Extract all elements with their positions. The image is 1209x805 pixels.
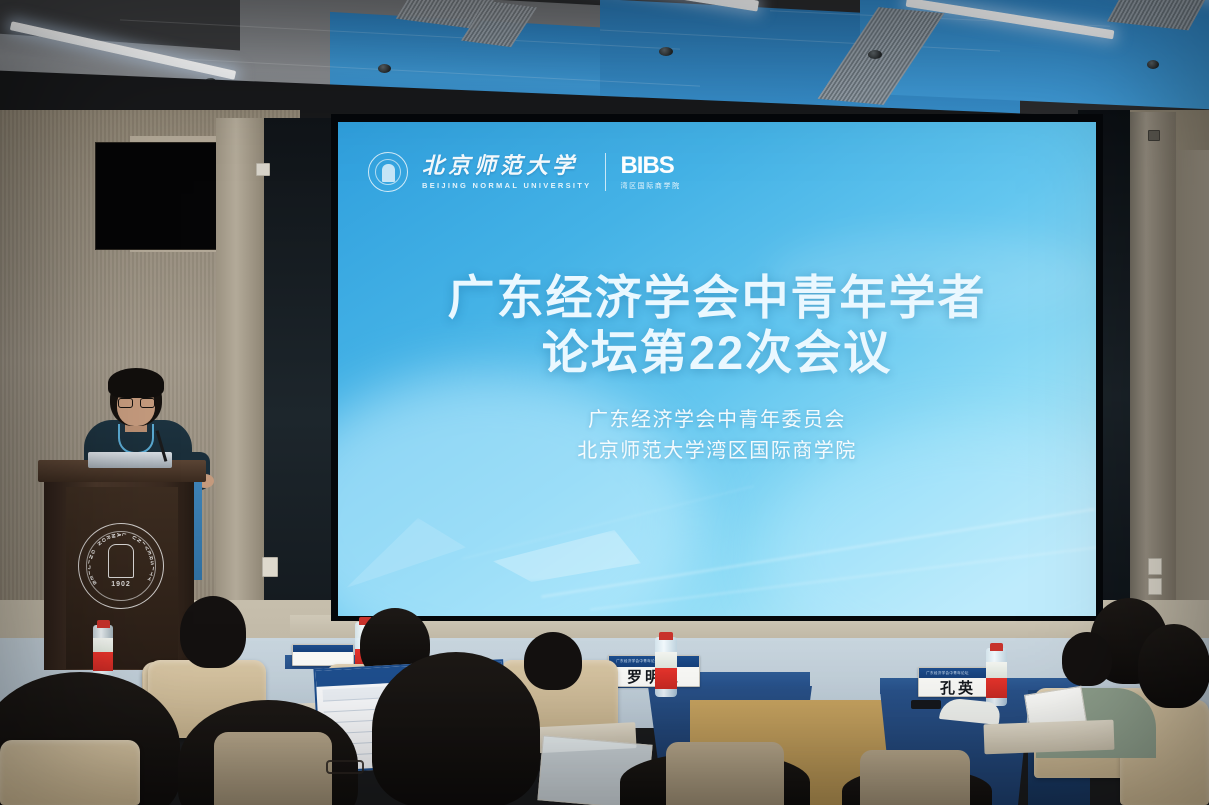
nameplate-org: 广东经济学会中青年论坛 <box>612 659 659 664</box>
slide-subtitle-line2: 北京师范大学湾区国际商学院 <box>338 436 1096 467</box>
audience-head <box>1138 624 1209 708</box>
nameplate <box>292 644 354 666</box>
chair[interactable] <box>860 750 970 805</box>
bottle-label-top <box>655 652 677 668</box>
bottle-cap <box>97 620 110 628</box>
audience-head <box>180 596 246 668</box>
wall-mounted-display[interactable] <box>95 142 217 250</box>
nameplate-name: 罗明忠 <box>609 667 699 686</box>
downlight-icon <box>868 50 882 59</box>
screen-logo-row: 北京师范大学 BEIJING NORMAL UNIVERSITY BIBS 湾区… <box>368 152 681 192</box>
bottle-cap <box>990 643 1003 651</box>
wall-switch-plate[interactable] <box>1148 558 1162 575</box>
university-wordmark: 北京师范大学 BEIJING NORMAL UNIVERSITY <box>422 155 591 190</box>
school-abbr: BIBS <box>620 154 680 178</box>
laptop[interactable] <box>88 452 172 468</box>
nameplate-org: 广东经济学会中青年论坛 <box>922 670 969 675</box>
desk-surface <box>984 720 1115 755</box>
chair[interactable] <box>666 742 784 805</box>
chair[interactable] <box>0 740 140 805</box>
university-name-cn: 北京师范大学 <box>422 155 591 177</box>
podium-seal-icon: 1902 BEIJING NORMAL UNIVERSITY <box>78 523 164 609</box>
slide-title-line2: 论坛第22次会议 <box>338 325 1096 380</box>
bottle-cap <box>659 632 673 640</box>
wall-switch-plate[interactable] <box>256 163 270 176</box>
lanyard <box>118 424 154 454</box>
wall-sensor-plate <box>1148 130 1160 141</box>
slide-title: 广东经济学会中青年学者 论坛第22次会议 <box>338 270 1096 381</box>
audience-head <box>1062 632 1112 686</box>
downlight-icon <box>659 47 673 56</box>
wall-switch-plate[interactable] <box>1148 578 1162 595</box>
wall-outlet-plate[interactable] <box>262 557 278 577</box>
phone[interactable] <box>911 700 941 709</box>
pillar-left <box>216 118 266 678</box>
bottle-label-top <box>93 638 113 652</box>
university-name-en: BEIJING NORMAL UNIVERSITY <box>422 181 591 190</box>
chair[interactable] <box>214 732 332 805</box>
bottle-label <box>655 668 677 689</box>
conference-photo-scene: 北京师范大学 BEIJING NORMAL UNIVERSITY BIBS 湾区… <box>0 0 1209 805</box>
audience-head <box>524 632 582 690</box>
nameplate-header <box>293 645 353 652</box>
logo-divider <box>605 153 606 191</box>
slide-subtitle-line1: 广东经济学会中青年委员会 <box>338 405 1096 436</box>
downlight-icon <box>1147 60 1159 69</box>
bottle-label <box>986 678 1007 698</box>
slide-subtitle: 广东经济学会中青年委员会 北京师范大学湾区国际商学院 <box>338 405 1096 467</box>
eyeglasses-icon <box>326 760 364 774</box>
nameplate: 广东经济学会中青年论坛 罗明忠 <box>608 655 700 687</box>
seal-ring-text: BEIJING NORMAL UNIVERSITY <box>79 524 163 608</box>
bibs-wordmark: BIBS 湾区国际商学院 <box>620 154 680 191</box>
eyeglasses-icon <box>118 398 155 408</box>
presentation-screen[interactable]: 北京师范大学 BEIJING NORMAL UNIVERSITY BIBS 湾区… <box>338 122 1096 616</box>
school-name-cn: 湾区国际商学院 <box>620 181 680 191</box>
audience-head-foreground <box>372 652 540 805</box>
bottle-label-top <box>986 662 1007 678</box>
bnu-seal-icon <box>368 152 408 192</box>
slide-title-line1: 广东经济学会中青年学者 <box>338 270 1096 325</box>
bottle-label <box>93 652 113 671</box>
speaker-hair <box>108 368 164 398</box>
downlight-icon <box>378 64 391 73</box>
